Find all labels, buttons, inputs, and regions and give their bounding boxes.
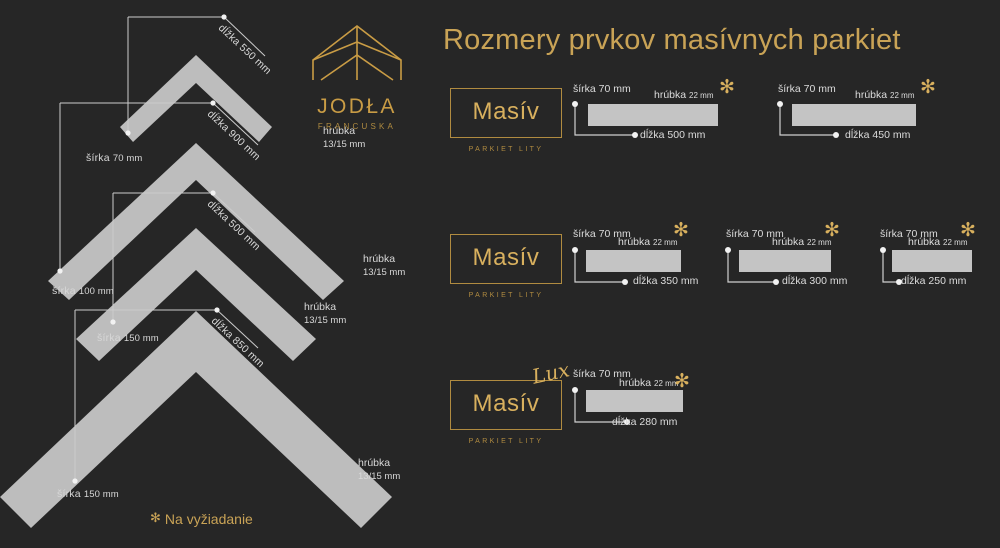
on-request-star-r2i2: ✻ bbox=[824, 221, 840, 240]
brand-badge-masiv-lux: Masív Lux PARKIET LITY bbox=[450, 380, 562, 445]
footnote: ✻Na vyžiadanie bbox=[150, 510, 253, 527]
thickness-label-r3i1: hrúbka 22 mm bbox=[619, 377, 678, 389]
page-title: Rozmery prvkov masívnych parkiet bbox=[443, 24, 901, 57]
plank-r2i2 bbox=[739, 250, 831, 272]
on-request-star-r1i2: ✻ bbox=[920, 78, 936, 97]
infographic-canvas: dĺžka 550 mm dĺžka 900 mm dĺžka 500 mm d… bbox=[0, 0, 1000, 548]
footnote-star-icon: ✻ bbox=[150, 510, 161, 525]
brand-badge-masiv-row2: Masív PARKIET LITY bbox=[450, 234, 562, 299]
plank-r2i3 bbox=[892, 250, 972, 272]
width-label-r1i1: šírka 70 mm bbox=[573, 83, 631, 95]
chevron-thickness-label-4: hrúbka 13/15 mm bbox=[358, 456, 400, 484]
chevron-width-label-2: šírka 100 mm bbox=[52, 285, 114, 297]
brand-box: Masív Lux bbox=[450, 380, 562, 430]
chevron-width-label-4: šírka 150 mm bbox=[57, 488, 119, 500]
brand-caption: PARKIET LITY bbox=[450, 292, 562, 299]
brand-badge-masiv-row1: Masív PARKIET LITY bbox=[450, 88, 562, 153]
thickness-label-r2i1: hrúbka 22 mm bbox=[618, 236, 677, 248]
brand-logo: JODŁA FRANCUSKA bbox=[303, 22, 411, 131]
length-label-r1i1: dĺžka 500 mm bbox=[640, 129, 705, 141]
brand-box: Masív bbox=[450, 88, 562, 138]
length-label-r1i2: dĺžka 450 mm bbox=[845, 129, 910, 141]
brand-word: Masív bbox=[451, 98, 561, 126]
plank-r3i1 bbox=[586, 390, 683, 412]
on-request-star-r3i1: ✻ bbox=[674, 372, 690, 391]
width-label-r1i2: šírka 70 mm bbox=[778, 83, 836, 95]
chevron-plank-1 bbox=[120, 55, 272, 142]
on-request-star-r1i1: ✻ bbox=[719, 78, 735, 97]
thickness-label-r2i3: hrúbka 22 mm bbox=[908, 236, 967, 248]
jodla-roof-icon bbox=[307, 22, 407, 84]
brand-caption: PARKIET LITY bbox=[450, 438, 562, 445]
footnote-text: Na vyžiadanie bbox=[165, 511, 253, 527]
logo-subtitle: FRANCUSKA bbox=[303, 122, 411, 131]
plank-r2i1 bbox=[586, 250, 681, 272]
length-label-r2i3: dĺžka 250 mm bbox=[901, 275, 966, 287]
brand-word: Masív bbox=[451, 390, 561, 418]
length-label-r2i2: dĺžka 300 mm bbox=[782, 275, 847, 287]
thickness-label-r1i2: hrúbka 22 mm bbox=[855, 89, 914, 101]
chevron-thickness-label-2: hrúbka 13/15 mm bbox=[363, 252, 405, 280]
plank-r1i1 bbox=[588, 104, 718, 126]
chevron-width-label-3: šírka 150 mm bbox=[97, 332, 159, 344]
logo-name: JODŁA bbox=[303, 95, 411, 119]
on-request-star-r2i1: ✻ bbox=[673, 221, 689, 240]
thickness-label-r2i2: hrúbka 22 mm bbox=[772, 236, 831, 248]
plank-r1i2 bbox=[792, 104, 916, 126]
chevron-plank-2 bbox=[48, 143, 344, 300]
on-request-star-r2i3: ✻ bbox=[960, 221, 976, 240]
thickness-label-r1i1: hrúbka 22 mm bbox=[654, 89, 713, 101]
chevron-width-label-1: šírka 70 mm bbox=[86, 152, 142, 164]
brand-box: Masív bbox=[450, 234, 562, 284]
length-label-r3i1: dĺžka 280 mm bbox=[612, 416, 677, 428]
chevron-thickness-label-3: hrúbka 13/15 mm bbox=[304, 300, 346, 328]
length-label-r2i1: dĺžka 350 mm bbox=[633, 275, 698, 287]
brand-caption: PARKIET LITY bbox=[450, 146, 562, 153]
brand-word: Masív bbox=[451, 244, 561, 272]
